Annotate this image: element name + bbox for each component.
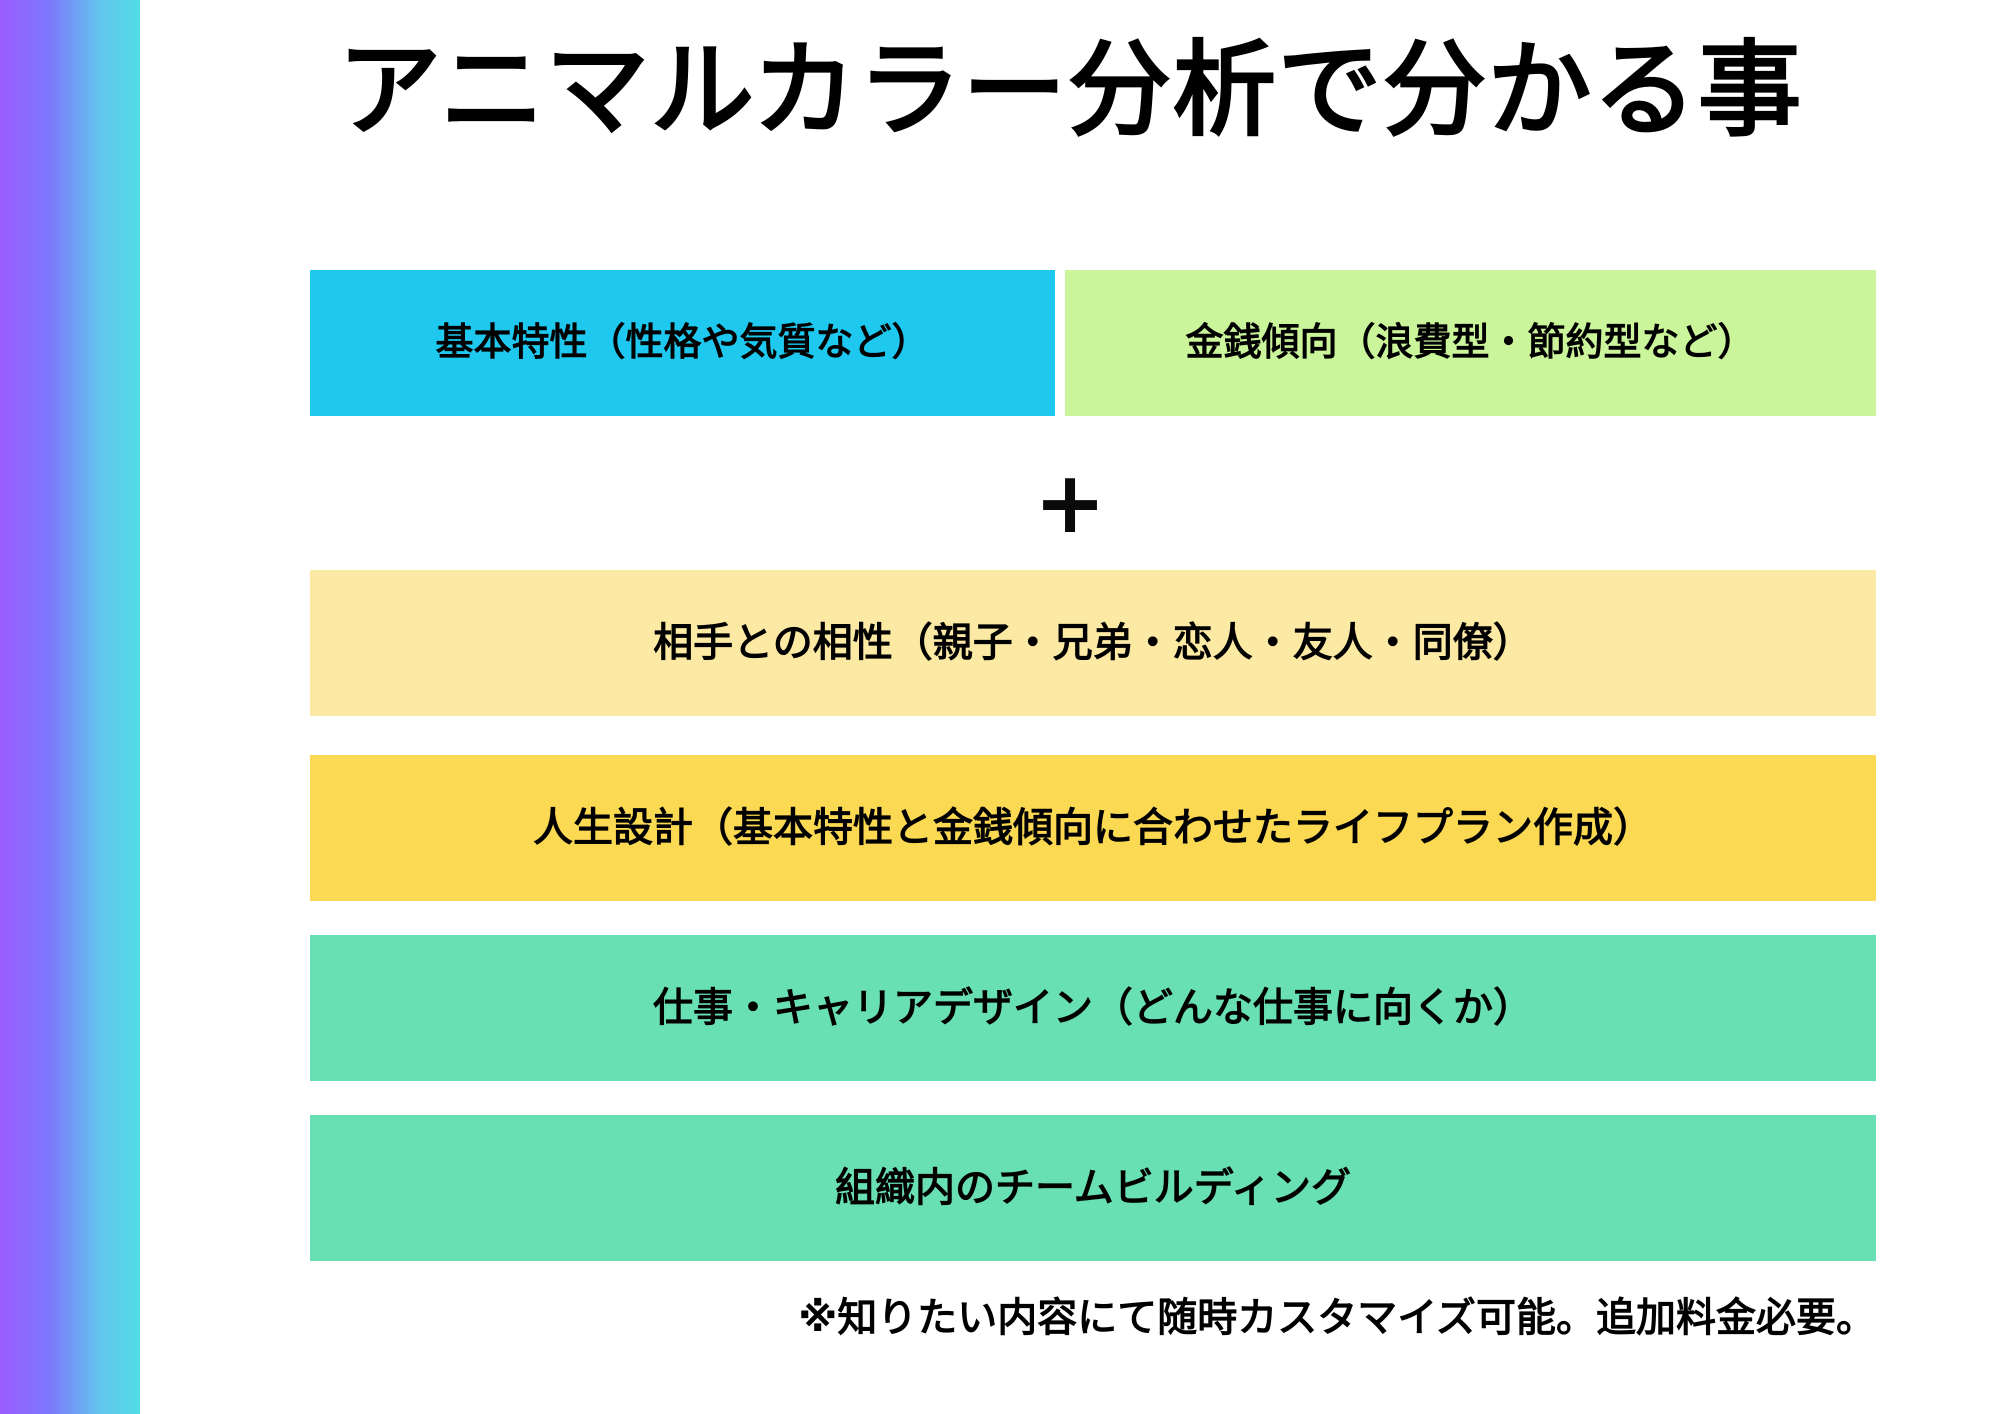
item-basic-traits: 基本特性（性格や気質など）: [310, 270, 1055, 416]
item-basic-traits-label: 基本特性（性格や気質など）: [435, 322, 929, 364]
item-compatibility: 相手との相性（親子・兄弟・恋人・友人・同僚）: [310, 570, 1876, 716]
item-team-building-label: 組織内のチームビルディング: [835, 1166, 1351, 1210]
footnote-note: ※知りたい内容にて随時カスタマイズ可能。追加料金必要。: [310, 1290, 1876, 1346]
plus-icon: +: [140, 448, 2000, 558]
item-money-tendency: 金銭傾向（浪費型・節約型など）: [1065, 270, 1876, 416]
slide-content: アニマルカラー分析で分かる事 基本特性（性格や気質など） 金銭傾向（浪費型・節約…: [140, 0, 2000, 1414]
item-team-building: 組織内のチームビルディング: [310, 1115, 1876, 1261]
item-career-design: 仕事・キャリアデザイン（どんな仕事に向くか）: [310, 935, 1876, 1081]
item-life-design-label: 人生設計（基本特性と金銭傾向に合わせたライフプラン作成）: [533, 806, 1653, 850]
item-life-design: 人生設計（基本特性と金銭傾向に合わせたライフプラン作成）: [310, 755, 1876, 901]
item-money-tendency-label: 金銭傾向（浪費型・節約型など）: [1185, 322, 1755, 364]
item-compatibility-label: 相手との相性（親子・兄弟・恋人・友人・同僚）: [653, 621, 1533, 665]
page-title: アニマルカラー分析で分かる事: [140, 26, 2000, 154]
item-career-design-label: 仕事・キャリアデザイン（どんな仕事に向くか）: [653, 986, 1533, 1030]
gradient-accent-bar: [0, 0, 140, 1414]
